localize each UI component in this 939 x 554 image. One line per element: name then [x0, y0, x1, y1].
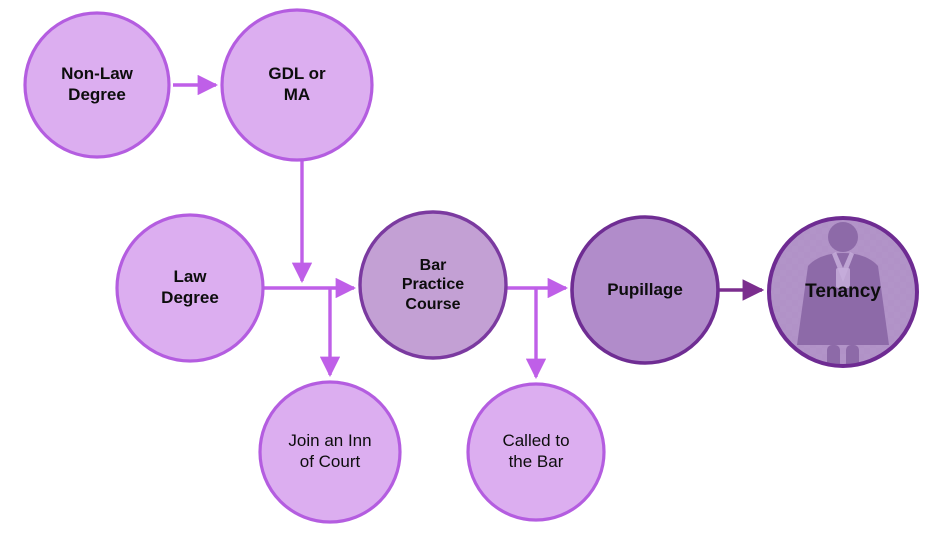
node-pupillage[interactable] [572, 217, 718, 363]
node-non-law-degree[interactable] [25, 13, 169, 157]
node-tenancy[interactable] [769, 218, 917, 371]
node-bar-practice-course[interactable] [360, 212, 506, 358]
nodes-layer [25, 10, 917, 522]
node-law-degree[interactable] [117, 215, 263, 361]
node-called-to-the-bar[interactable] [468, 384, 604, 520]
flowchart-canvas: Non-Law Degree GDL or MA Law Degree Bar … [0, 0, 939, 554]
node-gdl-or-ma[interactable] [222, 10, 372, 160]
flowchart-graphics [0, 0, 939, 554]
node-join-an-inn-of-court[interactable] [260, 382, 400, 522]
